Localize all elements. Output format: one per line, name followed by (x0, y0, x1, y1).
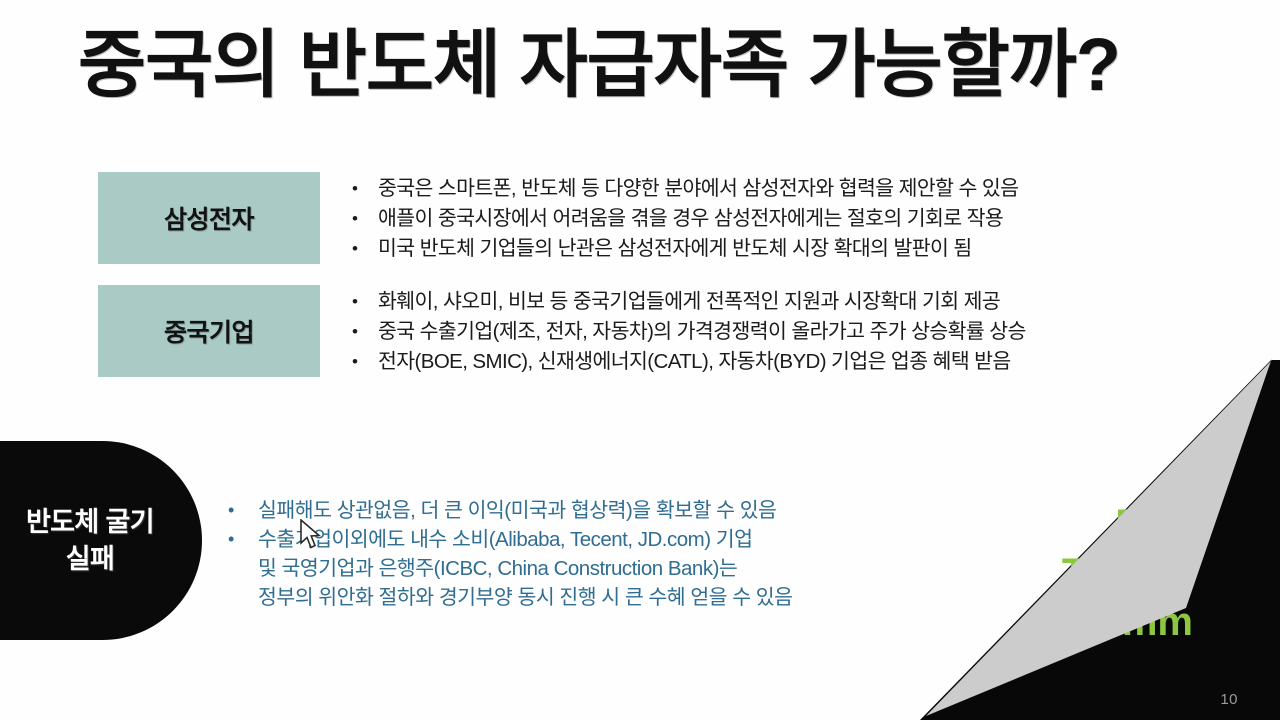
bullet-text: 수출기업이외에도 내수 소비(Alibaba, Tecent, JD.com) … (258, 525, 752, 554)
bullet-item: • 애플이 중국시장에서 어려움을 겪을 경우 삼성전자에게는 절호의 기회로 … (352, 204, 1182, 234)
bullet-item: • 실패해도 상관없음, 더 큰 이익(미국과 협상력)을 확보할 수 있음 (228, 496, 928, 525)
bullet-item: • 전자(BOE, SMIC), 신재생에너지(CATL), 자동차(BYD) … (352, 347, 1182, 377)
bullet-icon: • (228, 525, 258, 554)
bullet-text: 중국 수출기업(제조, 전자, 자동차)의 가격경쟁력이 올라가고 주가 상승확… (378, 317, 1026, 347)
bullet-icon: • (352, 204, 378, 234)
callout-semiconductor-failure: 반도체 굴기 실패 (0, 441, 202, 640)
bullet-continuation: 정부의 위안화 절하와 경기부양 동시 진행 시 큰 수혜 얻을 수 있음 (228, 583, 928, 612)
bullet-text: 정부의 위안화 절하와 경기부양 동시 진행 시 큰 수혜 얻을 수 있음 (258, 583, 793, 612)
label-box-samsung: 삼성전자 (98, 172, 320, 264)
label-box-samsung-text: 삼성전자 (164, 200, 254, 236)
brand-name: PLE (940, 500, 1193, 549)
brand-name-list: PLE TESLA alcomm (940, 500, 1193, 647)
mouse-pointer-icon (300, 519, 322, 551)
bullet-text: 실패해도 상관없음, 더 큰 이익(미국과 협상력)을 확보할 수 있음 (258, 496, 776, 525)
bullet-list-failure: • 실패해도 상관없음, 더 큰 이익(미국과 협상력)을 확보할 수 있음 •… (228, 496, 928, 612)
callout-line-1: 반도체 굴기 (26, 504, 154, 541)
page-title: 중국의 반도체 자급자족 가능할까? (78, 22, 1208, 107)
bullet-text: 전자(BOE, SMIC), 신재생에너지(CATL), 자동차(BYD) 기업… (378, 347, 1011, 377)
callout-line-2: 실패 (66, 541, 114, 578)
bullet-icon: • (352, 317, 378, 347)
bullet-list-china: • 화훼이, 샤오미, 비보 등 중국기업들에게 전폭적인 지원과 시장확대 기… (352, 287, 1182, 377)
bullet-icon: • (352, 287, 378, 317)
bullet-list-samsung: • 중국은 스마트폰, 반도체 등 다양한 분야에서 삼성전자와 협력을 제안할… (352, 174, 1182, 264)
bullet-item: • 미국 반도체 기업들의 난관은 삼성전자에게 반도체 시장 확대의 발판이 … (352, 234, 1182, 264)
bullet-item: • 중국 수출기업(제조, 전자, 자동차)의 가격경쟁력이 올라가고 주가 상… (352, 317, 1182, 347)
bullet-text: 미국 반도체 기업들의 난관은 삼성전자에게 반도체 시장 확대의 발판이 됨 (378, 234, 972, 264)
presentation-slide: 중국의 반도체 자급자족 가능할까? 삼성전자 • 중국은 스마트폰, 반도체 … (0, 0, 1280, 720)
bullet-icon: • (352, 174, 378, 204)
label-box-china-text: 중국기업 (164, 313, 254, 349)
brand-name: TESLA (940, 549, 1193, 598)
bullet-text: 및 국영기업과 은행주(ICBC, China Construction Ban… (258, 554, 737, 583)
overlay-black-region (900, 340, 1280, 720)
label-box-china: 중국기업 (98, 285, 320, 377)
bullet-continuation: 및 국영기업과 은행주(ICBC, China Construction Ban… (228, 554, 928, 583)
bullet-text: 중국은 스마트폰, 반도체 등 다양한 분야에서 삼성전자와 협력을 제안할 수… (378, 174, 1018, 204)
bullet-icon: • (352, 234, 378, 264)
slide-transition-wipe (900, 340, 1280, 720)
bullet-item: • 수출기업이외에도 내수 소비(Alibaba, Tecent, JD.com… (228, 525, 928, 554)
bullet-text: 화훼이, 샤오미, 비보 등 중국기업들에게 전폭적인 지원과 시장확대 기회 … (378, 287, 1000, 317)
bullet-item: • 중국은 스마트폰, 반도체 등 다양한 분야에서 삼성전자와 협력을 제안할… (352, 174, 1182, 204)
bullet-icon: • (352, 347, 378, 377)
bullet-text: 애플이 중국시장에서 어려움을 겪을 경우 삼성전자에게는 절호의 기회로 작용 (378, 204, 1003, 234)
bullet-icon: • (228, 496, 258, 525)
brand-name: alcomm (940, 598, 1193, 647)
page-number: 10 (1220, 691, 1238, 708)
bullet-item: • 화훼이, 샤오미, 비보 등 중국기업들에게 전폭적인 지원과 시장확대 기… (352, 287, 1182, 317)
